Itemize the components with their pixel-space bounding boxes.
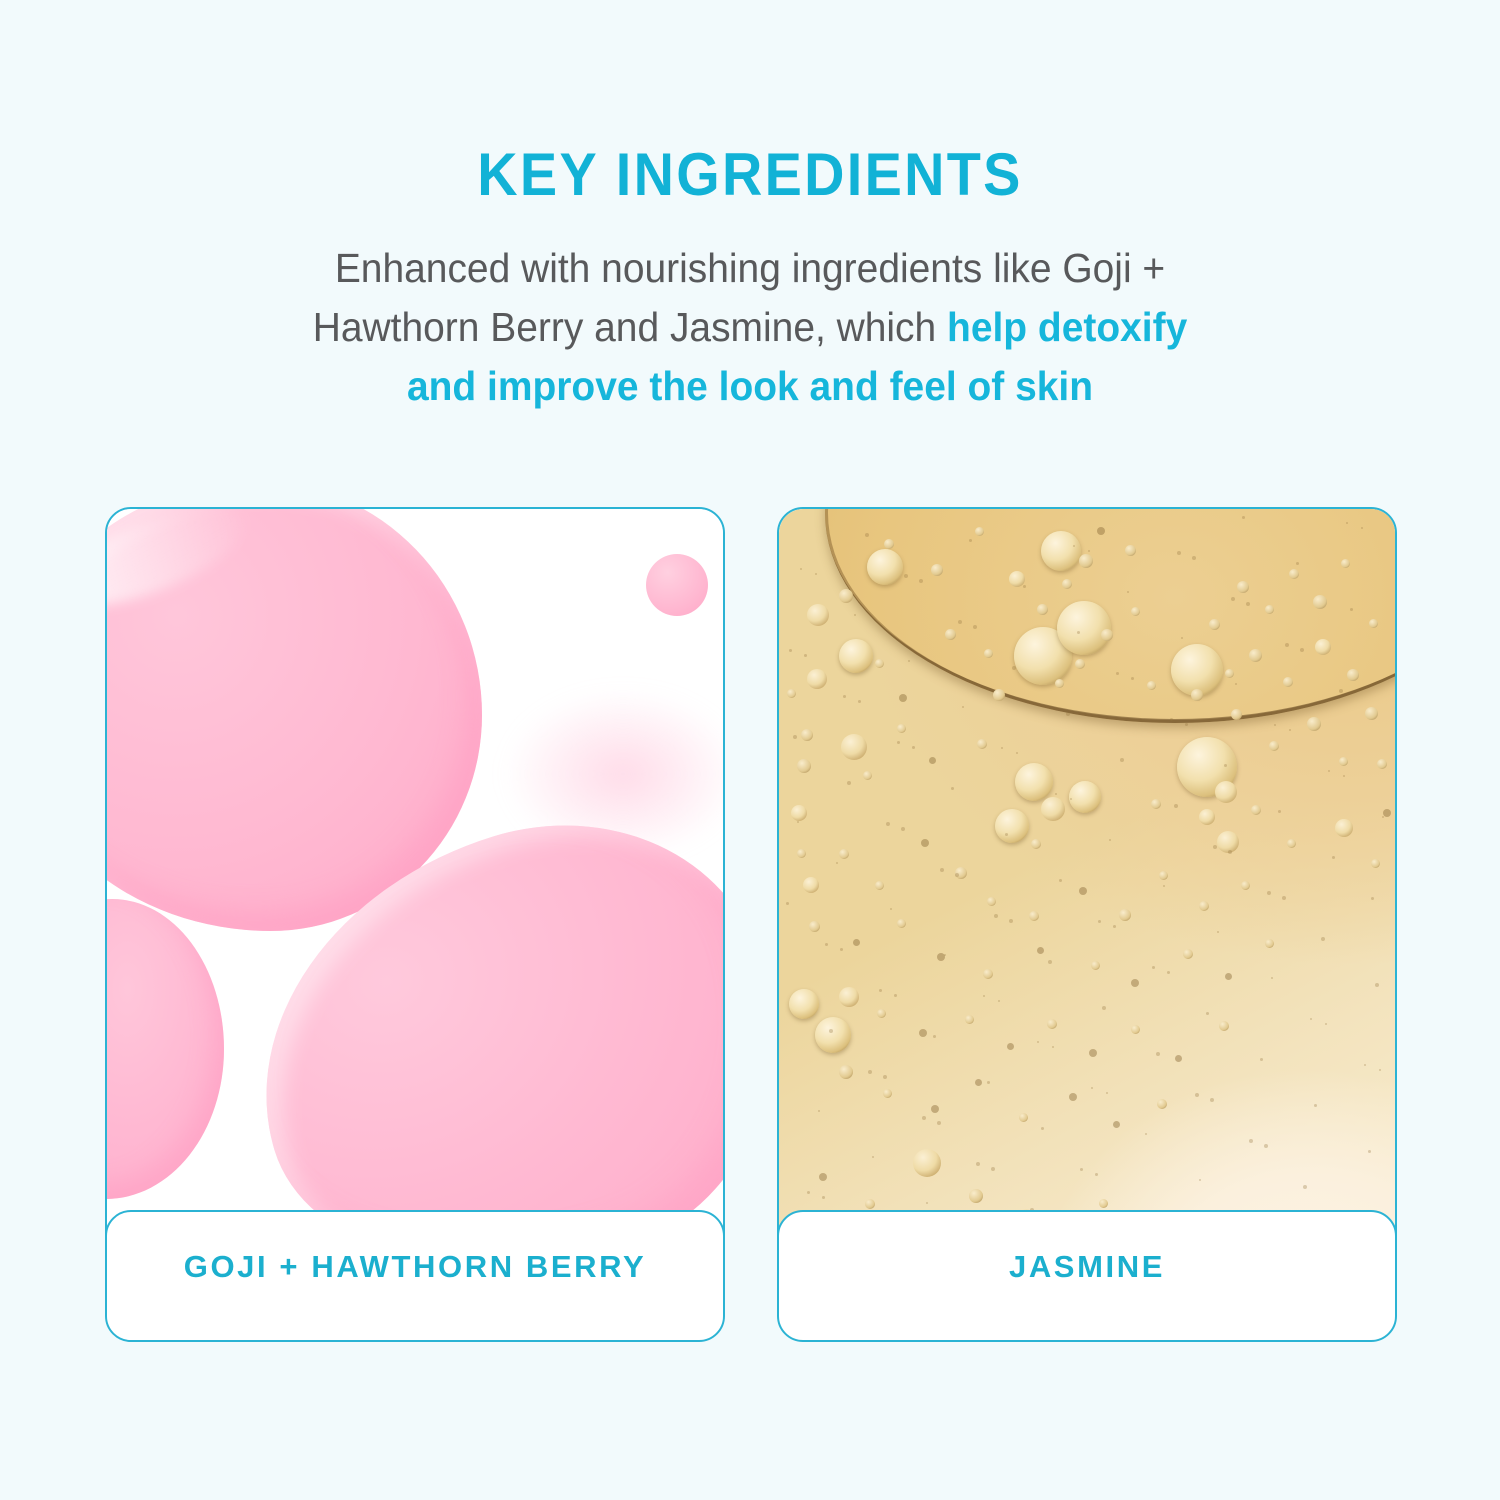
gold-speck xyxy=(1145,1133,1147,1135)
gold-speck xyxy=(1113,925,1116,928)
gold-bubble xyxy=(1015,763,1053,801)
gold-speck xyxy=(1170,718,1173,721)
gold-bubble xyxy=(1113,1121,1120,1128)
gold-speck xyxy=(1231,597,1235,601)
gold-bubble xyxy=(1347,669,1359,681)
ingredient-label-plate-goji: GOJI + HAWTHORN BERRY xyxy=(105,1210,725,1342)
gold-bubble xyxy=(1029,911,1039,921)
gold-speck xyxy=(1009,919,1013,923)
gold-speck xyxy=(1289,729,1291,731)
gold-speck xyxy=(1379,1069,1381,1071)
gold-speck xyxy=(983,995,985,997)
gold-speck xyxy=(1080,1168,1083,1171)
gold-speck xyxy=(886,822,890,826)
gold-bubble xyxy=(921,839,929,847)
gold-bubble xyxy=(1062,579,1072,589)
gold-speck xyxy=(1364,1064,1366,1066)
gold-bubble xyxy=(945,629,956,640)
subtitle-line-2-plain: Hawthorn Berry and Jasmine, which xyxy=(313,304,947,350)
gold-bubble xyxy=(1289,569,1299,579)
gold-speck xyxy=(1116,672,1119,675)
gold-speck xyxy=(1274,724,1276,726)
gold-speck xyxy=(904,574,908,578)
gold-speck xyxy=(933,1035,936,1038)
gold-bubble xyxy=(1237,581,1249,593)
gold-speck xyxy=(1091,1087,1093,1089)
gold-bubble xyxy=(1369,619,1378,628)
gold-speck xyxy=(969,539,972,542)
gold-speck xyxy=(843,695,846,698)
gold-bubble xyxy=(839,1065,853,1079)
gold-speck xyxy=(1343,775,1345,777)
gold-bubble xyxy=(875,881,884,890)
gold-speck xyxy=(1371,897,1374,900)
subtitle-highlight-2: and improve the look and feel of skin xyxy=(407,363,1093,409)
gold-speck xyxy=(1267,891,1271,895)
gold-speck xyxy=(1282,896,1286,900)
gold-bubble xyxy=(1383,809,1391,817)
page-title: KEY INGREDIENTS xyxy=(53,145,1448,205)
gold-speck xyxy=(926,1202,928,1204)
gold-speck xyxy=(998,1000,1000,1002)
gold-bubble xyxy=(1151,799,1161,809)
gold-bubble xyxy=(789,989,819,1019)
subtitle-highlight-1: help detoxify xyxy=(947,304,1187,350)
gold-speck xyxy=(1206,1012,1209,1015)
gold-speck xyxy=(1109,839,1111,841)
gold-bubble xyxy=(883,1089,892,1098)
gold-speck xyxy=(1339,689,1343,693)
gold-speck xyxy=(1095,1173,1098,1176)
gold-bubble xyxy=(884,539,894,549)
gold-speck xyxy=(1375,983,1379,987)
gold-speck xyxy=(1120,758,1124,762)
gold-speck xyxy=(1152,966,1155,969)
gold-speck xyxy=(1066,712,1070,716)
gold-speck xyxy=(868,1070,872,1074)
gold-speck xyxy=(1195,1093,1199,1097)
gold-bubble xyxy=(839,639,873,673)
gold-bubble xyxy=(1069,781,1101,813)
gold-bubble xyxy=(1215,781,1237,803)
gold-speck xyxy=(1350,608,1353,611)
gold-bubble xyxy=(1199,901,1209,911)
gold-speck xyxy=(1192,556,1196,560)
gold-speck xyxy=(1177,551,1181,555)
gold-speck xyxy=(1181,637,1183,639)
gold-bubble xyxy=(1339,757,1348,766)
gold-speck xyxy=(1106,1092,1108,1094)
gold-bubble xyxy=(1371,859,1380,868)
gold-speck xyxy=(1127,591,1129,593)
gold-bubble xyxy=(1157,1099,1167,1109)
gold-speck xyxy=(872,1156,874,1158)
gold-bubble xyxy=(1099,1199,1108,1208)
ingredient-card-goji-hawthorn-berry[interactable]: GOJI + HAWTHORN BERRY xyxy=(105,507,725,1342)
gold-speck xyxy=(908,660,910,662)
gold-bubble xyxy=(931,564,943,576)
gold-bubble xyxy=(1131,607,1140,616)
gold-bubble xyxy=(867,549,903,585)
gold-speck xyxy=(1249,1139,1253,1143)
gold-speck xyxy=(951,787,954,790)
gold-bubble xyxy=(863,771,872,780)
gold-bubble xyxy=(1037,947,1044,954)
gold-speck xyxy=(962,706,964,708)
gold-speck xyxy=(958,620,962,624)
gold-speck xyxy=(1224,764,1227,767)
ingredient-card-grid: GOJI + HAWTHORN BERRY JASMINE xyxy=(105,507,1397,1342)
gold-bubble xyxy=(983,969,993,979)
gold-speck xyxy=(1052,1046,1054,1048)
gold-speck xyxy=(1012,666,1016,670)
gold-speck xyxy=(825,943,828,946)
gold-speck xyxy=(883,1075,887,1079)
gold-speck xyxy=(836,862,838,864)
gold-bubble xyxy=(899,694,907,702)
gold-speck xyxy=(1361,527,1363,529)
gold-speck xyxy=(1023,585,1026,588)
gold-bubble xyxy=(919,1029,927,1037)
gold-bubble xyxy=(1183,949,1193,959)
gold-speck xyxy=(1296,562,1299,565)
gold-bubble xyxy=(839,849,849,859)
gold-speck xyxy=(1059,879,1062,882)
gold-speck xyxy=(991,1167,995,1171)
gold-bubble xyxy=(877,1009,886,1018)
gold-speck xyxy=(937,1121,941,1125)
gold-speck xyxy=(793,735,797,739)
gold-speck xyxy=(815,573,817,575)
gold-bubble xyxy=(809,921,820,932)
gold-speck xyxy=(1016,752,1018,754)
gold-speck xyxy=(1185,723,1188,726)
gold-speck xyxy=(1264,1144,1268,1148)
gold-speck xyxy=(804,654,807,657)
gold-speck xyxy=(1300,648,1304,652)
gold-bubble xyxy=(1031,839,1041,849)
gold-bubble xyxy=(1209,619,1220,630)
ingredient-label-goji: GOJI + HAWTHORN BERRY xyxy=(184,1249,647,1285)
gold-bubble xyxy=(1269,741,1279,751)
gold-bubble xyxy=(841,734,867,760)
gold-speck xyxy=(1325,1023,1327,1025)
gold-speck xyxy=(818,1110,820,1112)
gold-speck xyxy=(955,873,959,877)
gold-speck xyxy=(1048,960,1052,964)
gold-speck xyxy=(1246,602,1250,606)
gold-bubble xyxy=(815,1017,851,1053)
gold-bubble xyxy=(819,1173,827,1181)
gold-speck xyxy=(854,614,856,616)
gold-bubble xyxy=(1283,677,1293,687)
gold-speck xyxy=(840,948,843,951)
gold-speck xyxy=(1088,550,1090,552)
gold-speck xyxy=(944,954,946,956)
gold-bubble xyxy=(969,1189,983,1203)
gold-bubble xyxy=(931,1105,939,1113)
gold-speck xyxy=(987,1081,990,1084)
gold-bubble xyxy=(807,604,829,626)
gold-bubble xyxy=(1191,689,1203,701)
gold-speck xyxy=(807,1191,810,1194)
gold-speck xyxy=(1156,1052,1160,1056)
gold-speck xyxy=(1242,516,1245,519)
gold-bubble xyxy=(987,897,996,906)
gold-speck xyxy=(940,868,944,872)
gold-bubble xyxy=(1119,909,1131,921)
gold-bubble xyxy=(1219,1021,1229,1031)
gold-bubble xyxy=(1307,717,1321,731)
gold-bubble xyxy=(787,689,796,698)
gold-speck xyxy=(822,1196,825,1199)
gold-bubble xyxy=(1069,1093,1077,1101)
gold-bubble xyxy=(975,1079,982,1086)
gold-speck xyxy=(1310,1018,1312,1020)
gold-bubble xyxy=(977,739,987,749)
gold-bubble xyxy=(984,649,993,658)
gold-speck xyxy=(1055,793,1057,795)
gold-bubble xyxy=(1125,545,1136,556)
gold-speck xyxy=(797,821,799,823)
gold-speck xyxy=(1037,1041,1039,1043)
gold-speck xyxy=(865,533,869,537)
gold-bubble xyxy=(1265,939,1274,948)
page-subtitle: Enhanced with nourishing ingredients lik… xyxy=(199,239,1301,416)
gold-speck xyxy=(879,989,882,992)
gold-bubble xyxy=(839,589,853,603)
gold-speck xyxy=(922,1116,926,1120)
gold-bubble xyxy=(897,724,906,733)
gold-bubble xyxy=(1057,601,1111,655)
gold-bubble xyxy=(1377,759,1387,769)
gold-bubble xyxy=(1315,639,1331,655)
gold-bubble xyxy=(1101,629,1113,641)
gold-bubble xyxy=(1225,973,1232,980)
gold-speck xyxy=(897,741,900,744)
gold-bubble xyxy=(1055,679,1064,688)
gold-speck xyxy=(1005,833,1008,836)
gold-speck xyxy=(1303,1185,1307,1189)
gold-speck xyxy=(973,625,977,629)
gold-bubble xyxy=(1041,531,1081,571)
gold-bubble xyxy=(875,659,884,668)
gold-speck xyxy=(1131,677,1134,680)
gold-bubble xyxy=(1159,871,1168,880)
gold-bubble xyxy=(839,987,859,1007)
gold-bubble xyxy=(865,1199,875,1209)
gold-speck xyxy=(1278,810,1281,813)
gold-speck xyxy=(1199,1179,1201,1181)
gold-speck xyxy=(1163,885,1165,887)
gold-speck xyxy=(789,649,792,652)
pink-blob-small-top-right xyxy=(646,554,708,616)
subtitle-line-1: Enhanced with nourishing ingredients lik… xyxy=(335,245,1165,291)
gold-bubble xyxy=(791,805,807,821)
gold-speck xyxy=(1041,1127,1044,1130)
gold-bubble xyxy=(1265,605,1274,614)
gold-bubble xyxy=(1231,709,1242,720)
gold-bubble xyxy=(993,689,1005,701)
gold-speck xyxy=(1228,850,1232,854)
header: KEY INGREDIENTS Enhanced with nourishing… xyxy=(0,0,1500,416)
gold-speck xyxy=(994,914,998,918)
gold-bubble xyxy=(1079,887,1087,895)
gold-bubble xyxy=(1147,681,1156,690)
gold-bubble xyxy=(1089,1049,1097,1057)
gold-bubble xyxy=(1225,669,1234,678)
gold-speck xyxy=(1271,977,1273,979)
gold-speck xyxy=(847,781,851,785)
gold-bubble xyxy=(1079,554,1093,568)
gold-bubble xyxy=(995,809,1029,843)
gold-speck xyxy=(829,1029,833,1033)
gold-bubble xyxy=(801,729,813,741)
gold-bubble xyxy=(803,877,819,893)
gold-bubble xyxy=(1341,559,1350,568)
gold-speck xyxy=(1285,643,1289,647)
ingredient-label-plate-jasmine: JASMINE xyxy=(777,1210,1397,1342)
ingredient-card-jasmine[interactable]: JASMINE xyxy=(777,507,1397,1342)
gold-speck xyxy=(1174,804,1178,808)
gold-speck xyxy=(1073,545,1075,547)
gold-speck xyxy=(1321,937,1325,941)
gold-bubble xyxy=(1287,839,1296,848)
gold-bubble xyxy=(929,757,936,764)
gold-bubble xyxy=(1199,809,1215,825)
gold-speck xyxy=(1260,1058,1263,1061)
gold-bubble xyxy=(1365,707,1378,720)
gold-bubble xyxy=(1041,797,1065,821)
gold-bubble xyxy=(897,919,906,928)
gold-speck xyxy=(1235,683,1237,685)
gold-bubble xyxy=(1251,805,1261,815)
gold-bubble xyxy=(1091,961,1100,970)
gold-speck xyxy=(786,902,789,905)
gold-bubble xyxy=(1241,881,1250,890)
gold-speck xyxy=(1217,931,1219,933)
gold-speck xyxy=(1213,845,1217,849)
gold-speck xyxy=(1210,1098,1214,1102)
gold-speck xyxy=(890,908,892,910)
gold-speck xyxy=(1328,770,1330,772)
gold-bubble xyxy=(1335,819,1353,837)
gold-speck xyxy=(1070,798,1072,800)
gold-bubble xyxy=(1047,1019,1057,1029)
key-ingredients-page: KEY INGREDIENTS Enhanced with nourishing… xyxy=(0,0,1500,1500)
gold-bubble xyxy=(965,1015,974,1024)
gold-speck xyxy=(894,994,897,997)
gold-speck xyxy=(1001,747,1003,749)
gold-bubble xyxy=(1175,1055,1182,1062)
gold-bubble xyxy=(1131,979,1139,987)
gold-speck xyxy=(1368,1150,1371,1153)
gold-speck xyxy=(800,568,802,570)
gold-speck xyxy=(912,746,915,749)
gold-bubble xyxy=(1131,1025,1140,1034)
gold-bubble xyxy=(1019,1113,1028,1122)
gold-speck xyxy=(858,700,861,703)
gold-bubble xyxy=(1037,604,1048,615)
ingredient-label-jasmine: JASMINE xyxy=(1009,1249,1165,1285)
gold-bubble xyxy=(975,527,984,536)
gold-speck xyxy=(901,827,905,831)
gold-bubble xyxy=(1097,527,1105,535)
gold-speck xyxy=(1314,1104,1317,1107)
gold-speck xyxy=(919,579,923,583)
gold-speck xyxy=(1332,856,1335,859)
gold-speck xyxy=(1346,522,1348,524)
gold-bubble xyxy=(1249,649,1262,662)
gold-bubble xyxy=(1007,1043,1014,1050)
gold-speck xyxy=(976,1162,980,1166)
gold-bubble xyxy=(913,1149,941,1177)
gold-speck xyxy=(1077,631,1080,634)
gold-bubble xyxy=(853,939,860,946)
gold-speck xyxy=(1102,1006,1106,1010)
gold-bubble xyxy=(797,849,806,858)
gold-bubble xyxy=(797,759,811,773)
gold-speck xyxy=(1382,816,1384,818)
pink-blob-highlight xyxy=(107,509,258,626)
gold-bubble xyxy=(1313,595,1327,609)
gold-speck xyxy=(1167,971,1170,974)
gold-bubble xyxy=(807,669,827,689)
gold-speck xyxy=(1098,920,1101,923)
gold-bubble xyxy=(1075,659,1085,669)
